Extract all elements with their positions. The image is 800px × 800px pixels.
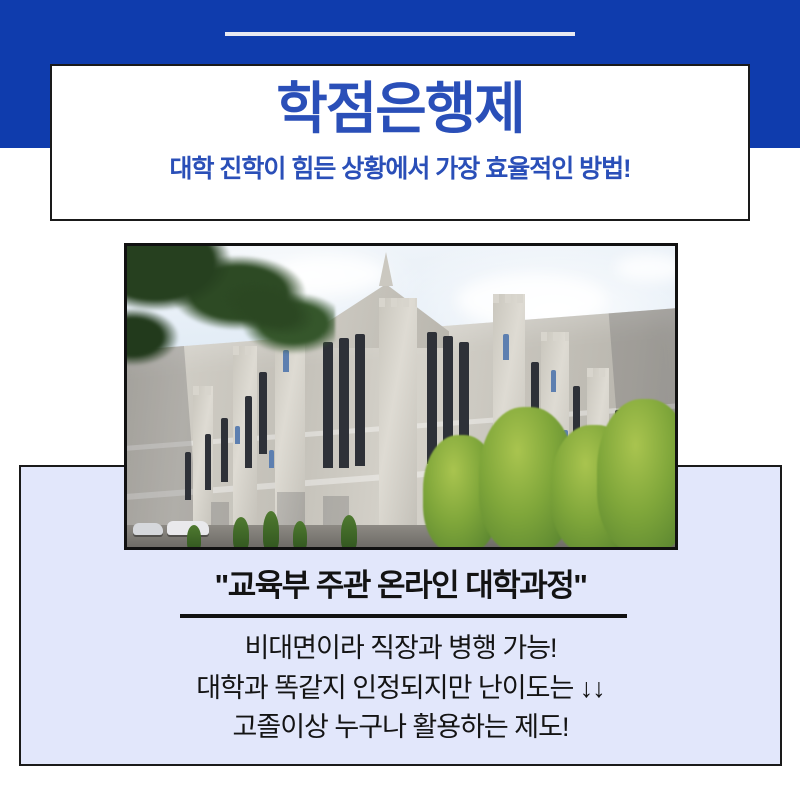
foreground-shrub (233, 517, 249, 550)
promo-poster: 학점은행제 대학 진학이 힘든 상황에서 가장 효율적인 방법! "교육부 주관… (0, 0, 800, 800)
foreground-shrub (341, 515, 357, 550)
central-pier (379, 298, 417, 546)
cloud-shape (615, 254, 678, 282)
info-card-divider (180, 614, 627, 618)
roof-spire (379, 252, 393, 286)
crenellation (379, 298, 417, 307)
parked-car (133, 523, 163, 535)
crenellation (587, 368, 609, 377)
info-body-line-3: 고졸이상 누구나 활용하는 제도! (21, 708, 780, 748)
info-body-line-1: 비대면이라 직장과 병행 가능! (21, 629, 780, 669)
tower-slit-window (269, 450, 274, 468)
tower-slit-window (235, 426, 240, 444)
arched-window (355, 334, 365, 466)
crenellation (541, 332, 569, 341)
info-body-line-2: 대학과 똑같지 인정되지만 난이도는 ↓↓ (21, 669, 780, 709)
page-subtitle: 대학 진학이 힘든 상황에서 가장 효율적인 방법! (169, 149, 630, 185)
page-title: 학점은행제 (276, 80, 524, 139)
arched-window (427, 332, 437, 464)
tower-slit-window (503, 334, 509, 360)
header-rule-divider (225, 32, 575, 36)
foreground-shrub (187, 525, 201, 550)
foreground-shrub (293, 521, 307, 550)
facade-window (245, 396, 252, 468)
facade-window (185, 452, 191, 500)
foreground-tree (597, 399, 678, 550)
tower-slit-window (551, 370, 556, 392)
arched-window (339, 338, 349, 468)
facade-window (221, 418, 228, 482)
university-building-photo (124, 243, 678, 550)
facade-window (205, 434, 211, 490)
info-card-body: 비대면이라 직장과 병행 가능! 대학과 똑같지 인정되지만 난이도는 ↓↓ 고… (21, 629, 780, 748)
crenellation (493, 294, 525, 303)
foreground-shrub (263, 511, 279, 550)
info-card-heading: "교육부 주관 온라인 대학과정" (21, 560, 780, 605)
header-title-card: 학점은행제 대학 진학이 힘든 상황에서 가장 효율적인 방법! (50, 64, 750, 221)
